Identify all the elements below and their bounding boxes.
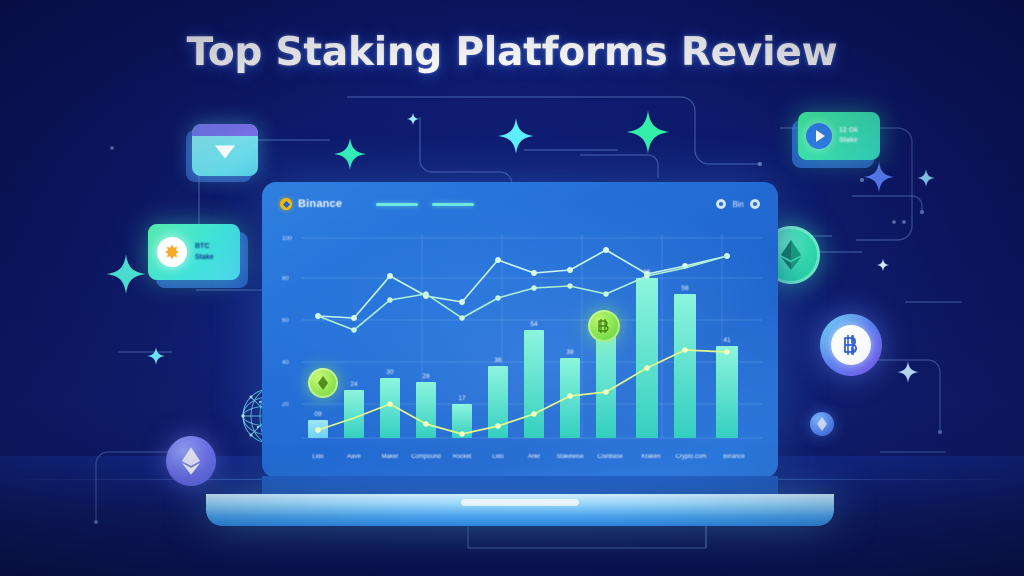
binance-logo-icon — [280, 198, 292, 210]
bar — [636, 278, 658, 438]
nav-placeholders[interactable] — [376, 203, 474, 206]
bitcoin-chart-token[interactable] — [588, 310, 620, 342]
ethereum-icon — [779, 239, 803, 271]
svg-text:Kraken: Kraken — [641, 454, 660, 460]
svg-text:Coinbase: Coinbase — [597, 454, 623, 460]
staking-chart: 100 80 60 40 20 — [276, 228, 768, 472]
play-circle-icon — [806, 123, 832, 149]
line-series-volume-points — [315, 347, 730, 437]
bar — [674, 294, 696, 438]
svg-text:24: 24 — [350, 381, 358, 388]
svg-text:Lido: Lido — [312, 454, 324, 460]
svg-text:36: 36 — [494, 357, 502, 364]
svg-text:80: 80 — [282, 276, 289, 282]
wallet-card-header — [192, 124, 258, 136]
x-axis-labels: Lido Aave Maker Compound Rocket Lido Ank… — [312, 454, 745, 460]
bitcoin-card-text: BTC Stake — [195, 243, 214, 261]
svg-text:40: 40 — [282, 360, 289, 366]
y-axis-labels: 100 80 60 40 20 — [282, 236, 293, 408]
svg-text:Ankr: Ankr — [528, 454, 540, 460]
bitcoin-card-line2: Stake — [195, 254, 214, 261]
brand[interactable]: Binance — [280, 198, 342, 210]
svg-text:17: 17 — [458, 395, 466, 402]
header-label: Bin — [732, 200, 744, 209]
play-card-line2: Stake — [839, 136, 858, 147]
laptop-screen: Binance Bin — [262, 182, 778, 478]
ethereum-icon — [180, 446, 202, 476]
play-card-text: 12 Ok Stake — [839, 126, 858, 147]
svg-text:100: 100 — [282, 236, 293, 242]
svg-text:Binance: Binance — [723, 454, 745, 460]
play-card[interactable]: 12 Ok Stake — [798, 112, 880, 160]
bitcoin-blue-token[interactable] — [820, 314, 882, 376]
user-circle-icon[interactable] — [716, 199, 726, 209]
bar-series — [308, 278, 738, 438]
ethereum-purple-token[interactable] — [166, 436, 216, 486]
svg-text:Stakewise: Stakewise — [556, 454, 584, 460]
chart-container: 100 80 60 40 20 — [276, 228, 768, 472]
bar — [596, 326, 616, 438]
line-series-volume — [318, 350, 727, 434]
wallet-card[interactable] — [192, 124, 258, 176]
svg-text:54: 54 — [530, 321, 538, 328]
svg-text:Lido: Lido — [492, 454, 504, 460]
brand-name: Binance — [298, 198, 342, 210]
bitcoin-card[interactable]: BTC Stake — [148, 224, 240, 280]
nav-placeholder-2[interactable] — [432, 203, 474, 206]
svg-text:30: 30 — [386, 369, 394, 376]
svg-text:38: 38 — [566, 349, 574, 356]
page-title: Top Staking Platforms Review — [0, 30, 1024, 75]
line-series-apy — [318, 250, 727, 318]
settings-circle-icon[interactable] — [750, 199, 760, 209]
cardano-chart-token[interactable] — [308, 368, 338, 398]
line-series-rewards — [318, 256, 727, 330]
dashboard-header: Binance Bin — [262, 182, 778, 226]
bar — [716, 346, 738, 438]
bitcoin-icon — [596, 317, 612, 335]
bitcoin-icon — [831, 325, 871, 365]
poster-canvas: Top Staking Platforms Review BTC Stake 1… — [0, 0, 1024, 576]
bar — [344, 390, 364, 438]
bar — [416, 382, 436, 438]
svg-text:Maker: Maker — [382, 454, 399, 460]
download-triangle-icon — [215, 146, 235, 159]
bitcoin-coin-icon — [157, 237, 187, 267]
svg-text:60: 60 — [282, 318, 289, 324]
svg-text:58: 58 — [681, 285, 689, 292]
svg-text:20: 20 — [282, 402, 289, 408]
laptop-trackpad-notch — [461, 499, 579, 506]
bar — [524, 330, 544, 438]
svg-text:Rocket: Rocket — [453, 454, 472, 460]
small-blue-token[interactable] — [810, 412, 834, 436]
play-card-line1: 12 Ok — [839, 126, 858, 137]
svg-text:41: 41 — [723, 337, 731, 344]
svg-text:28: 28 — [422, 373, 430, 380]
nav-placeholder-1[interactable] — [376, 203, 418, 206]
laptop-base — [206, 494, 834, 526]
bitcoin-card-line1: BTC — [195, 243, 214, 250]
header-actions[interactable]: Bin — [716, 199, 760, 209]
svg-text:Aave: Aave — [347, 454, 361, 460]
coin-icon — [816, 417, 828, 431]
coin-icon — [316, 375, 330, 391]
svg-text:09: 09 — [314, 411, 322, 418]
svg-text:Compound: Compound — [411, 454, 440, 460]
svg-text:Crypto.com: Crypto.com — [676, 454, 707, 460]
laptop-hinge — [262, 476, 778, 496]
